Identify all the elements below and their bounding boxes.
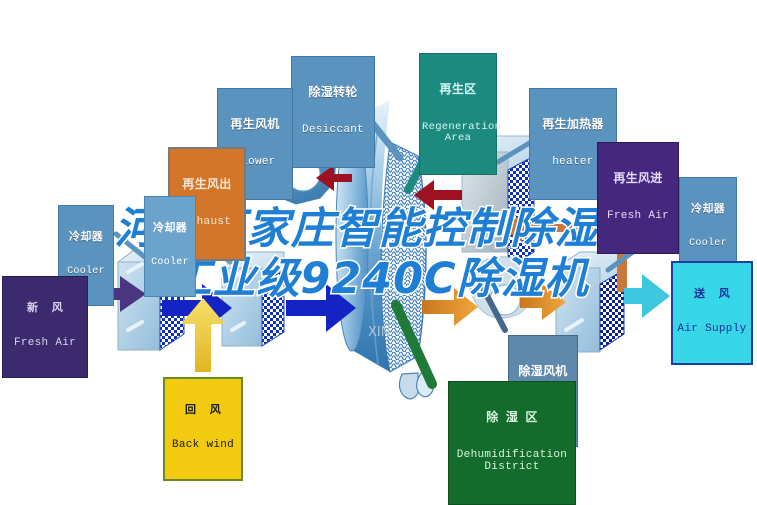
rotor-to-blower-arrow (422, 288, 478, 326)
label-fresh-air-in: 新 风 Fresh Air (2, 276, 88, 378)
supply-arrow (624, 274, 670, 318)
label-fresh-air-in-cn: 新 风 (6, 303, 84, 315)
label-dehum-district: 除 湿 区 Dehumidification District (448, 381, 576, 505)
label-regen-blower-cn: 再生风机 (220, 118, 290, 131)
label-fresh-air-in-en: Fresh Air (6, 338, 84, 350)
svg-text:XIN: XIN (368, 325, 390, 340)
label-cooler-mid-cn: 冷却器 (147, 223, 193, 235)
label-regeneration-area-cn: 再生区 (422, 83, 494, 96)
cooler-box-mid (222, 252, 284, 346)
label-desiccant-rotor-cn: 除湿转轮 (294, 86, 372, 99)
label-regen-heater-cn: 再生加热器 (532, 118, 614, 131)
label-regen-fresh-air-en: Fresh Air (600, 211, 676, 223)
label-regen-fresh-air: 再生风进 Fresh Air (597, 142, 679, 254)
label-air-supply-en: Air Supply (675, 324, 749, 336)
label-cooler-right-cn: 冷却器 (682, 204, 734, 216)
label-regeneration-area-en: Regeneration Area (422, 122, 494, 145)
dehumidifier-diagram: XIN (0, 0, 757, 488)
label-dehum-district-en: Dehumidification District (451, 450, 573, 474)
label-regeneration-area: 再生区 Regeneration Area (419, 53, 497, 175)
label-air-supply: 送 风 Air Supply (671, 261, 753, 365)
label-dehum-district-cn: 除 湿 区 (451, 411, 573, 424)
label-cooler-left-cn: 冷却器 (61, 232, 111, 244)
label-desiccant-rotor: 除湿转轮 Desiccant (291, 56, 375, 168)
label-desiccant-rotor-en: Desiccant (294, 125, 372, 137)
label-back-wind: 回 风 Back wind (163, 377, 243, 481)
label-cooler-mid: 冷却器 Cooler (144, 196, 196, 297)
label-back-wind-en: Back wind (168, 440, 238, 452)
label-cooler-mid-en: Cooler (147, 258, 193, 269)
label-cooler-right-en: Cooler (682, 239, 734, 250)
label-back-wind-cn: 回 风 (168, 405, 238, 417)
dehumidification-blower-body (469, 257, 533, 318)
label-regen-exhaust-cn: 再生风出 (172, 178, 242, 191)
label-regen-fresh-air-cn: 再生风进 (600, 172, 676, 185)
label-dehum-blower-cn: 除湿风机 (511, 365, 575, 378)
label-air-supply-cn: 送 风 (675, 289, 749, 301)
